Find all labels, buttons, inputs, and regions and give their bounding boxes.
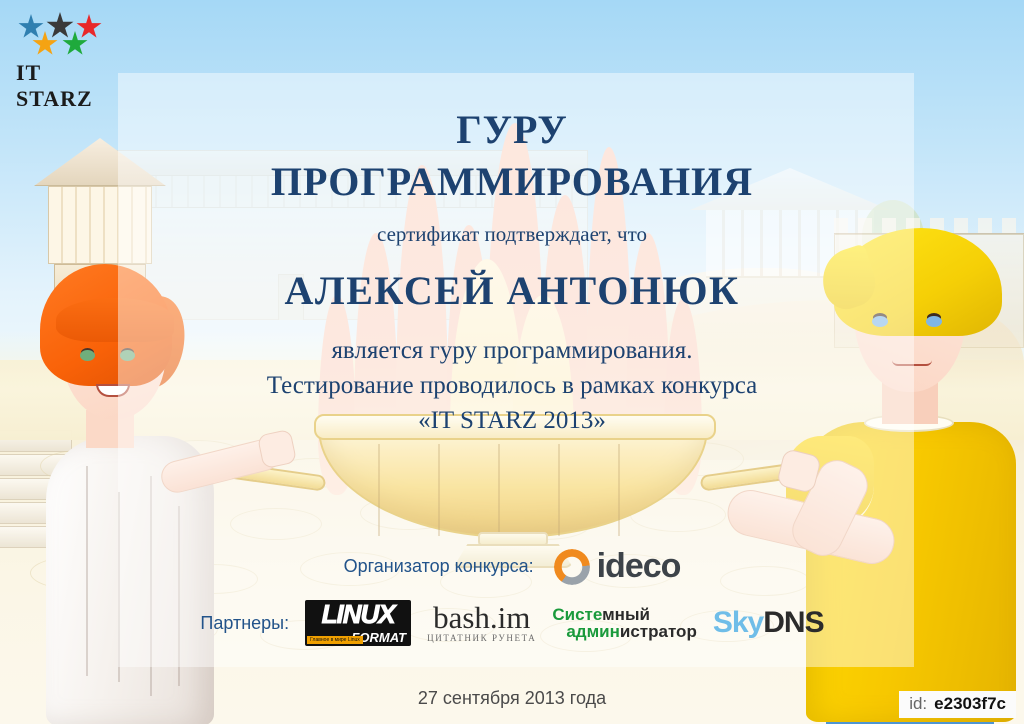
recipient-name: АЛЕКСЕЙ АНТОНЮК: [0, 267, 1024, 314]
partners-label: Партнеры:: [200, 613, 289, 634]
linux-wordmark: LINUX: [322, 600, 395, 628]
linux-format-logo: LINUX FORMAT Главное в мире Linux: [305, 600, 411, 646]
certificate-body-line2: Тестирование проводилось в рамках конкур…: [0, 372, 1024, 400]
certificate-body-line1: является гуру программирования.: [0, 337, 1024, 365]
certificate-date: 27 сентября 2013 года: [0, 688, 1024, 709]
sysadmin-part3: админ: [566, 622, 620, 641]
ideco-wordmark: ideco: [597, 547, 681, 586]
linux-format-tagline: Главное в мире Linux: [307, 636, 363, 644]
certificate-content: ГУРУ ПРОГРАММИРОВАНИЯ сертификат подтвер…: [0, 0, 1024, 724]
partners-row: Партнеры: LINUX FORMAT Главное в мире Li…: [0, 600, 1024, 646]
id-label: id:: [909, 694, 927, 714]
star-cluster-icon: [14, 12, 110, 56]
certificate-subtitle: сертификат подтверждает, что: [0, 222, 1024, 247]
ideco-logo: ideco: [554, 547, 681, 586]
organizer-row: Организатор конкурса: ideco: [0, 547, 1024, 586]
ideco-swoosh-icon: [554, 549, 590, 585]
it-starz-wordmark: IT STARZ: [16, 60, 124, 112]
skydns-logo: SkyDNS: [713, 606, 824, 640]
certificate-id-box: id: e2303f7c: [899, 691, 1016, 718]
organizer-label: Организатор конкурса:: [344, 556, 534, 577]
sysadmin-logo: Системный администратор: [552, 606, 697, 640]
bash-im-logo: bash.im ЦИТАТНИК РУНЕТА: [427, 603, 536, 643]
skydns-part1: Sky: [713, 606, 763, 639]
skydns-part2: DNS: [763, 606, 823, 639]
certificate-title-line1: ГУРУ: [0, 106, 1024, 153]
sysadmin-part4: истратор: [620, 622, 697, 641]
certificate-title-line2: ПРОГРАММИРОВАНИЯ: [0, 158, 1024, 205]
it-starz-logo: IT STARZ: [14, 12, 124, 92]
bash-im-subtitle: ЦИТАТНИК РУНЕТА: [427, 633, 536, 643]
id-value: e2303f7c: [934, 694, 1006, 714]
sysadmin-line2: администратор: [552, 623, 697, 640]
bash-im-wordmark: bash.im: [433, 603, 530, 633]
certificate-body-line3: «IT STARZ 2013»: [0, 407, 1024, 435]
certificate-canvas: ГУРУ ПРОГРАММИРОВАНИЯ сертификат подтвер…: [0, 0, 1024, 724]
sysadmin-line1: Системный: [552, 606, 697, 623]
